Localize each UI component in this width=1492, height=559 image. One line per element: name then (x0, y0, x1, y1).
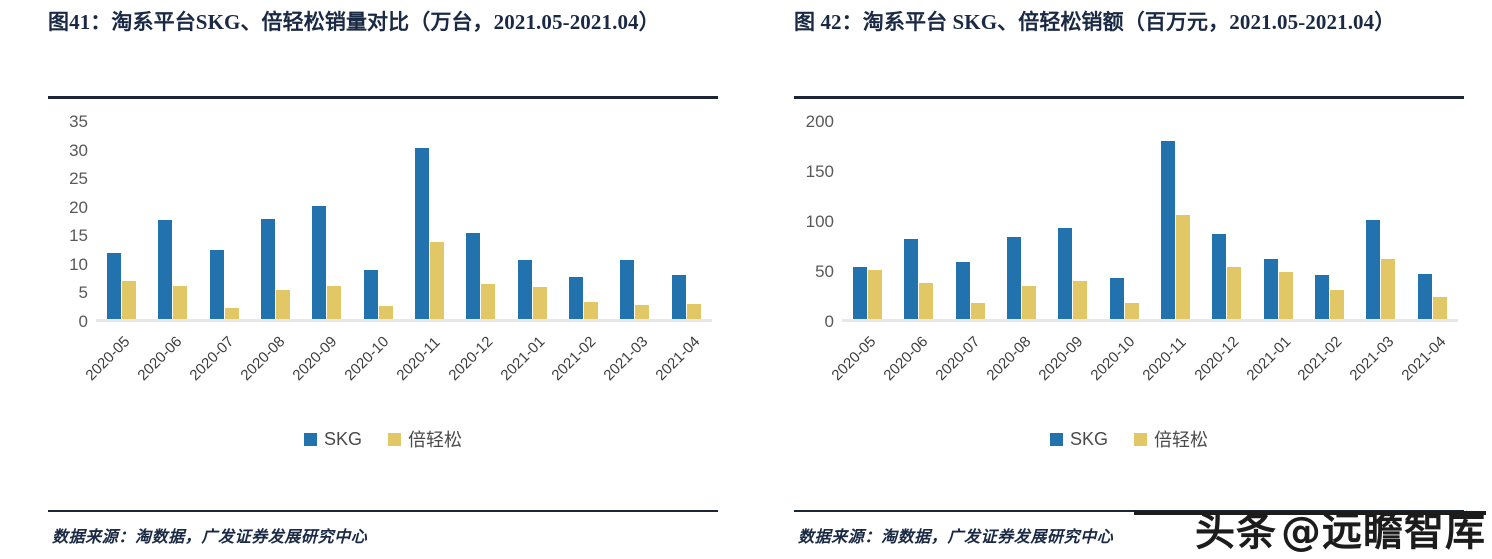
bar-倍轻松-2021-02 (584, 302, 598, 319)
y-axis-tick: 5 (79, 283, 88, 303)
bar-倍轻松-2021-03 (635, 305, 649, 319)
y-axis-tick: 35 (69, 112, 88, 132)
bar-倍轻松-2020-08 (1022, 286, 1036, 319)
legend-label-skg: SKG (324, 429, 362, 450)
bar-group (1201, 122, 1252, 319)
bar-group (1407, 122, 1458, 319)
bar-skg-2021-04 (1418, 274, 1432, 319)
bar-skg-2020-08 (1007, 237, 1021, 319)
bar-group (96, 122, 147, 319)
legend-swatch-icon-beiqingsong (388, 433, 401, 446)
bar-倍轻松-2021-04 (687, 304, 701, 319)
bar-skg-2021-02 (1315, 275, 1329, 319)
bar-skg-2021-01 (1264, 259, 1278, 319)
bar-group (507, 122, 558, 319)
bar-倍轻松-2020-11 (430, 242, 444, 319)
bar-skg-2020-09 (312, 206, 326, 319)
figure-panel-42: 图 42：淘系平台 SKG、倍轻松销额（百万元，2021.05-2021.04）… (746, 0, 1492, 559)
bar-倍轻松-2021-01 (1279, 272, 1293, 319)
legend-item-beiqingsong: 倍轻松 (1134, 426, 1208, 452)
bar-group (945, 122, 996, 319)
chart-fig42: 050100150200 2020-052020-062020-072020-0… (794, 108, 1464, 453)
legend-label-skg: SKG (1070, 429, 1108, 450)
bar-skg-2021-02 (569, 277, 583, 319)
bar-group (661, 122, 712, 319)
bar-skg-2021-01 (518, 260, 532, 319)
bar-skg-2020-06 (904, 239, 918, 319)
legend-item-skg: SKG (304, 429, 362, 450)
y-axis-tick: 15 (69, 226, 88, 246)
bar-group (404, 122, 455, 319)
y-axis-tick: 25 (69, 169, 88, 189)
x-axis-labels: 2020-052020-062020-072020-082020-092020-… (842, 322, 1464, 422)
watermark-strike (1134, 511, 1486, 515)
bar-skg-2020-10 (1110, 278, 1124, 319)
bar-倍轻松-2020-05 (122, 281, 136, 319)
bar-skg-2020-07 (210, 250, 224, 319)
data-source-note-fig42: 数据来源：淘数据，广发证券发展研究中心 (798, 523, 1113, 547)
bar-skg-2020-08 (261, 219, 275, 319)
legend-label-beiqingsong: 倍轻松 (1154, 426, 1208, 452)
bar-group (250, 122, 301, 319)
x-axis-cell: 2021-04 (666, 322, 718, 422)
bar-倍轻松-2020-11 (1176, 215, 1190, 319)
bar-倍轻松-2020-09 (1073, 281, 1087, 319)
bar-group (842, 122, 893, 319)
bar-倍轻松-2020-06 (173, 286, 187, 319)
x-axis-cell: 2021-04 (1412, 322, 1464, 422)
y-axis-tick: 10 (69, 255, 88, 275)
bar-skg-2020-12 (1212, 234, 1226, 319)
bar-倍轻松-2021-03 (1381, 259, 1395, 319)
bar-skg-2020-05 (853, 267, 867, 319)
y-axis-tick: 150 (806, 162, 834, 182)
bar-倍轻松-2020-09 (327, 286, 341, 319)
footer-rule (48, 510, 718, 512)
y-axis-tick: 100 (806, 212, 834, 232)
bar-倍轻松-2020-12 (1227, 267, 1241, 319)
legend-label-beiqingsong: 倍轻松 (408, 426, 462, 452)
bar-skg-2020-05 (107, 253, 121, 319)
title-rule-top (794, 96, 1464, 99)
bar-groups (842, 122, 1458, 319)
bar-倍轻松-2021-02 (1330, 290, 1344, 319)
bar-skg-2021-03 (1366, 220, 1380, 319)
bar-倍轻松-2020-05 (868, 270, 882, 319)
bar-groups (96, 122, 712, 319)
bar-倍轻松-2020-06 (919, 283, 933, 319)
bar-group (301, 122, 352, 319)
legend-swatch-icon-beiqingsong (1134, 433, 1147, 446)
bar-skg-2021-04 (672, 275, 686, 319)
bar-group (558, 122, 609, 319)
y-axis-tick: 200 (806, 112, 834, 132)
bar-倍轻松-2021-01 (533, 287, 547, 319)
bar-倍轻松-2020-07 (971, 303, 985, 319)
bar-group (1047, 122, 1098, 319)
bar-skg-2021-03 (620, 260, 634, 319)
bar-group (1150, 122, 1201, 319)
bar-group (996, 122, 1047, 319)
bar-skg-2020-11 (1161, 141, 1175, 319)
bar-group (1355, 122, 1406, 319)
y-axis-tick: 0 (79, 312, 88, 332)
x-axis-labels: 2020-052020-062020-072020-082020-092020-… (96, 322, 718, 422)
y-axis-labels: 05101520253035 (48, 122, 92, 322)
bar-group (199, 122, 250, 319)
legend-item-skg: SKG (1050, 429, 1108, 450)
legend-swatch-icon-skg (304, 433, 317, 446)
page-title-fig42: 图 42：淘系平台 SKG、倍轻松销额（百万元，2021.05-2021.04） (794, 8, 1464, 38)
figure-panel-41: 图41：淘系平台SKG、倍轻松销量对比（万台，2021.05-2021.04） … (0, 0, 746, 559)
bar-group (147, 122, 198, 319)
bar-skg-2020-10 (364, 270, 378, 319)
bar-group (353, 122, 404, 319)
bar-倍轻松-2020-10 (1125, 303, 1139, 319)
bar-倍轻松-2020-08 (276, 290, 290, 319)
data-source-note-fig41: 数据来源：淘数据，广发证券发展研究中心 (52, 523, 367, 547)
chart-fig41: 05101520253035 2020-052020-062020-072020… (48, 108, 718, 453)
bar-skg-2020-06 (158, 220, 172, 319)
legend-swatch-icon-skg (1050, 433, 1063, 446)
y-axis-tick: 0 (825, 312, 834, 332)
bar-group (893, 122, 944, 319)
bar-group (455, 122, 506, 319)
bar-group (1304, 122, 1355, 319)
y-axis-labels: 050100150200 (794, 122, 838, 322)
title-rule-top (48, 96, 718, 99)
bar-group (1253, 122, 1304, 319)
legend-item-beiqingsong: 倍轻松 (388, 426, 462, 452)
y-axis-tick: 20 (69, 198, 88, 218)
chart-legend-fig41: SKG 倍轻松 (48, 426, 718, 452)
bar-skg-2020-09 (1058, 228, 1072, 319)
bar-倍轻松-2020-10 (379, 306, 393, 319)
bar-skg-2020-11 (415, 148, 429, 319)
bar-倍轻松-2020-12 (481, 284, 495, 319)
bar-倍轻松-2020-07 (225, 308, 239, 319)
bar-倍轻松-2021-04 (1433, 297, 1447, 319)
y-axis-tick: 30 (69, 141, 88, 161)
bar-group (609, 122, 660, 319)
y-axis-tick: 50 (815, 262, 834, 282)
bar-skg-2020-12 (466, 233, 480, 319)
chart-legend-fig42: SKG 倍轻松 (794, 426, 1464, 452)
page-title-fig41: 图41：淘系平台SKG、倍轻松销量对比（万台，2021.05-2021.04） (48, 8, 718, 38)
bar-skg-2020-07 (956, 262, 970, 319)
bar-group (1099, 122, 1150, 319)
figure-sheet: 图41：淘系平台SKG、倍轻松销量对比（万台，2021.05-2021.04） … (0, 0, 1492, 559)
